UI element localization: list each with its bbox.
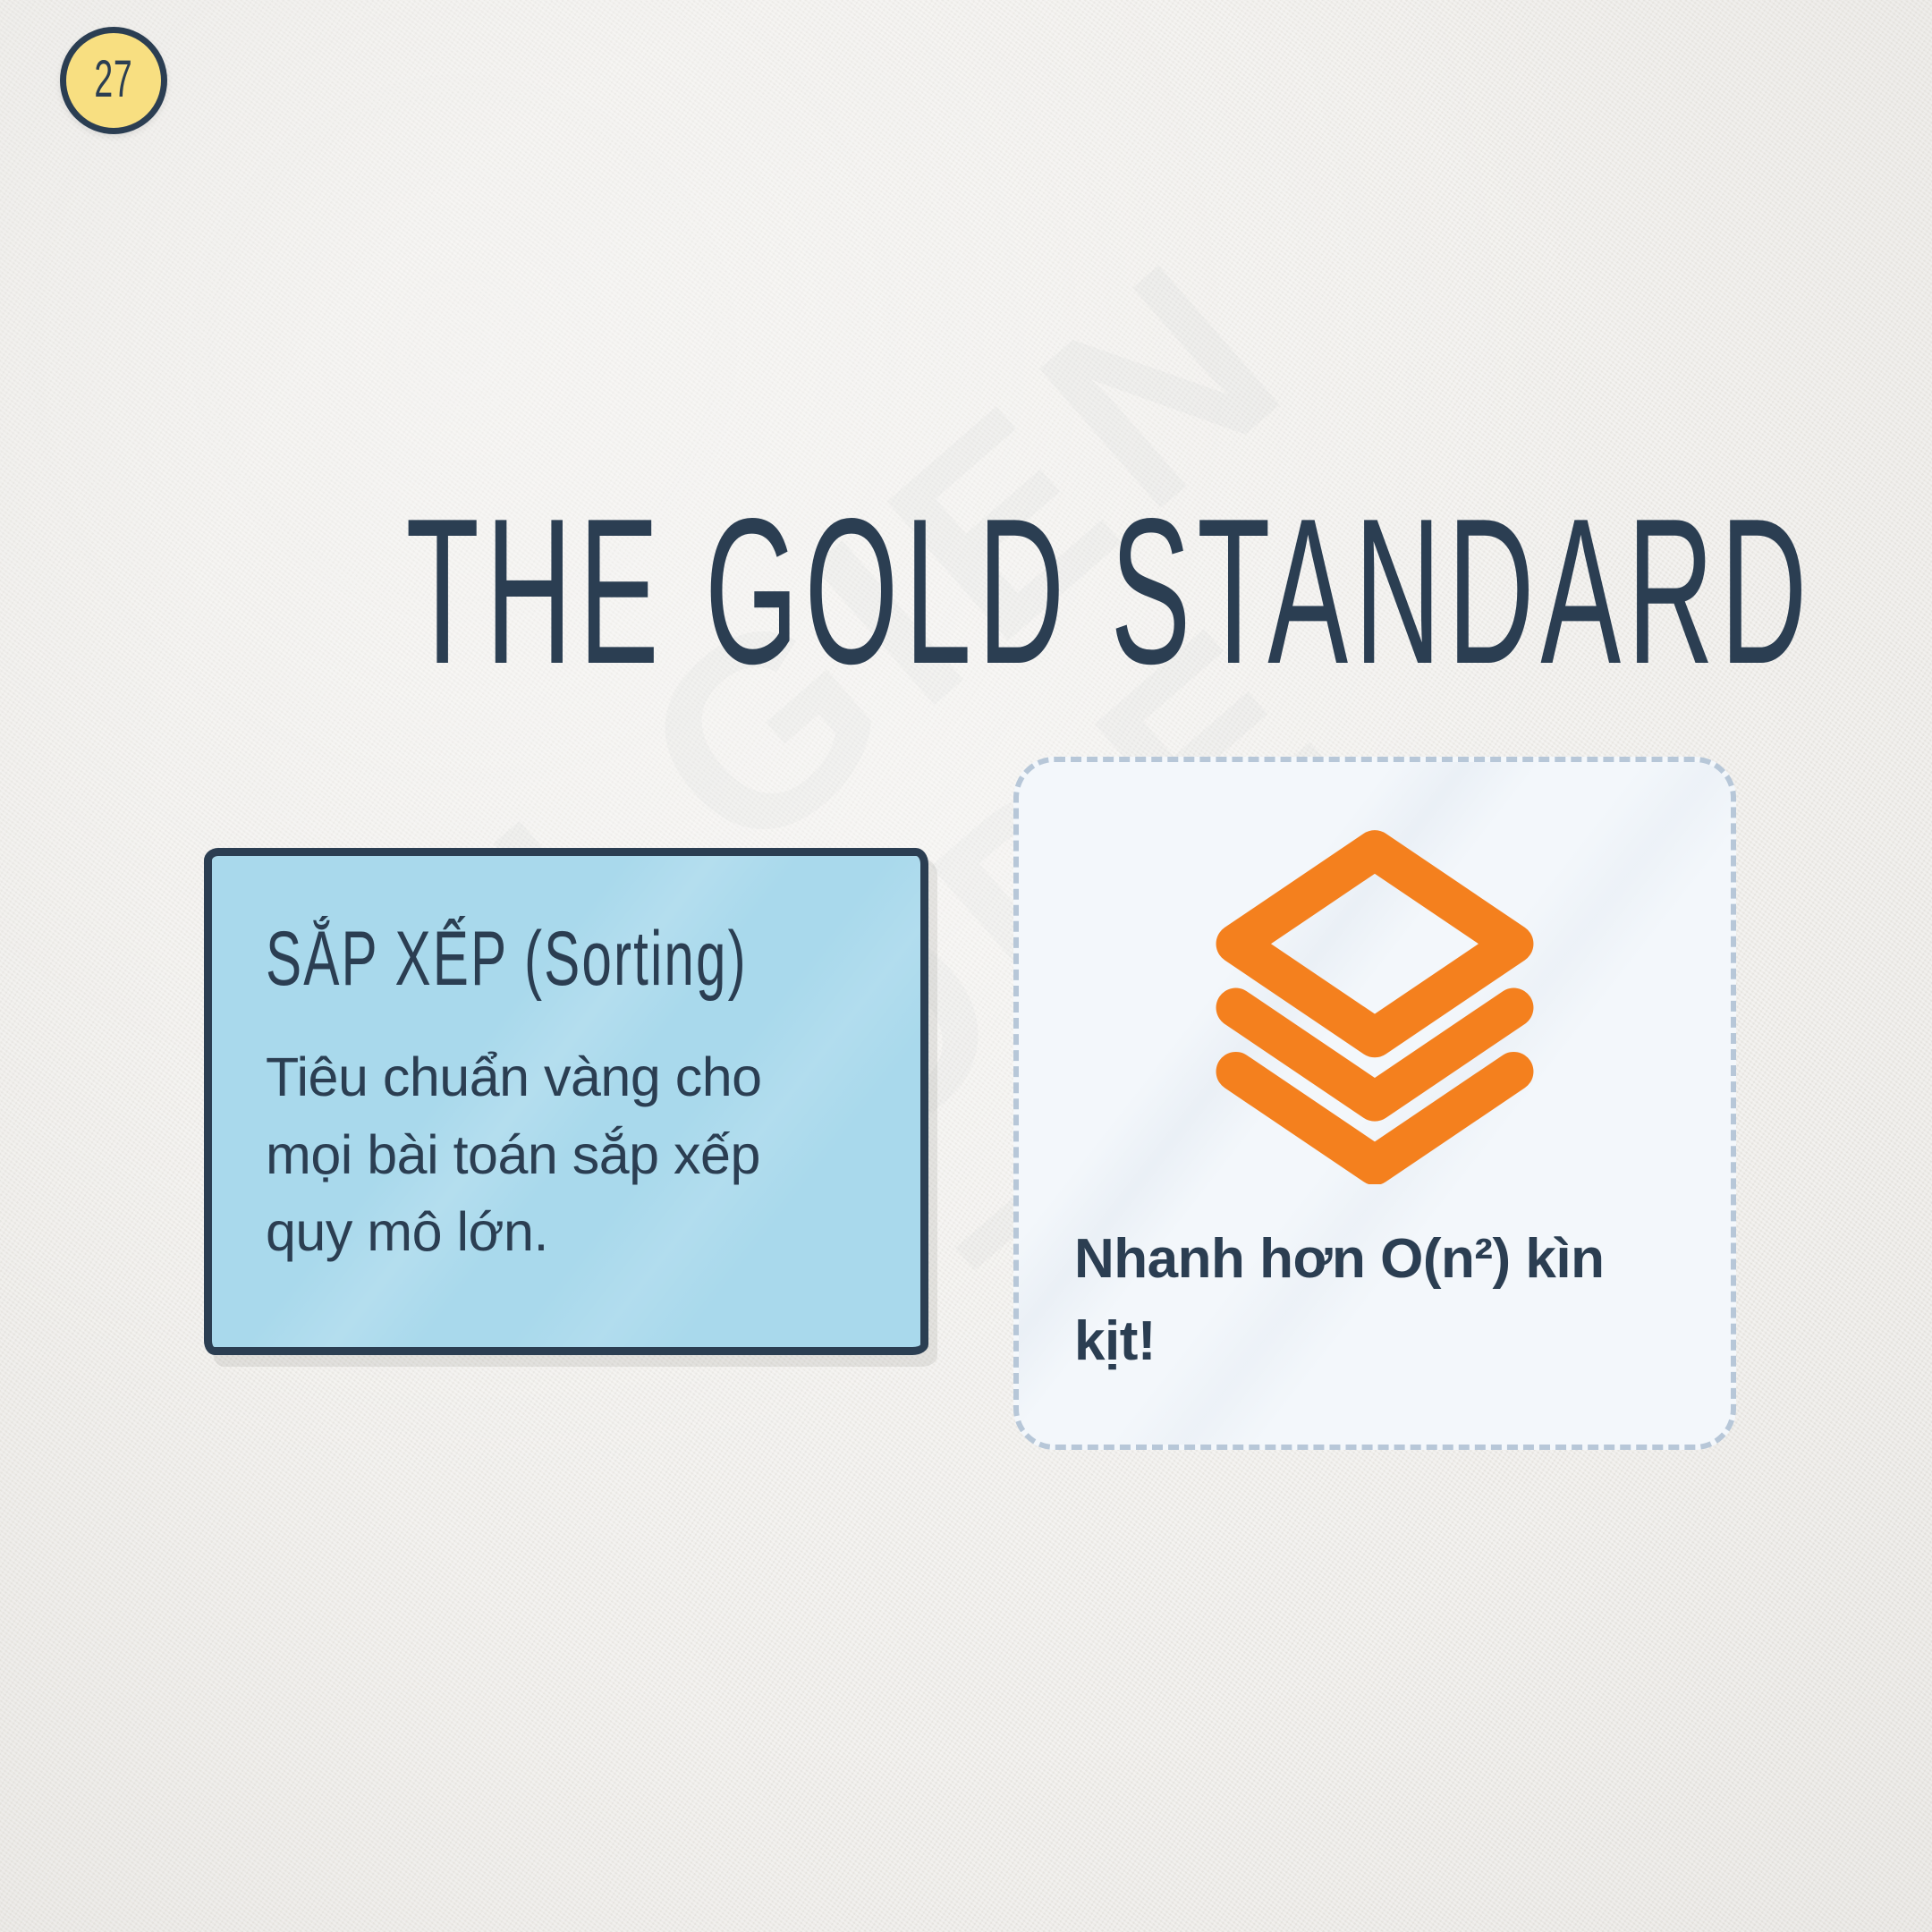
- concept-card-heading: SẮP XẾP (Sorting): [266, 920, 724, 997]
- page-number-badge: 27: [60, 27, 167, 134]
- page-title: THE GOLD STANDARD: [406, 488, 1527, 696]
- page-number-label: 27: [94, 53, 132, 105]
- benefit-card: Nhanh hơn O(n²) kìn kịt!: [1013, 757, 1736, 1450]
- concept-card: SẮP XẾP (Sorting) Tiêu chuẩn vàng cho mọ…: [204, 848, 928, 1355]
- layers-icon: [1019, 809, 1731, 1184]
- benefit-card-text: Nhanh hơn O(n²) kìn kịt!: [1074, 1218, 1681, 1383]
- concept-card-body: Tiêu chuẩn vàng cho mọi bài toán sắp xếp…: [266, 1038, 838, 1271]
